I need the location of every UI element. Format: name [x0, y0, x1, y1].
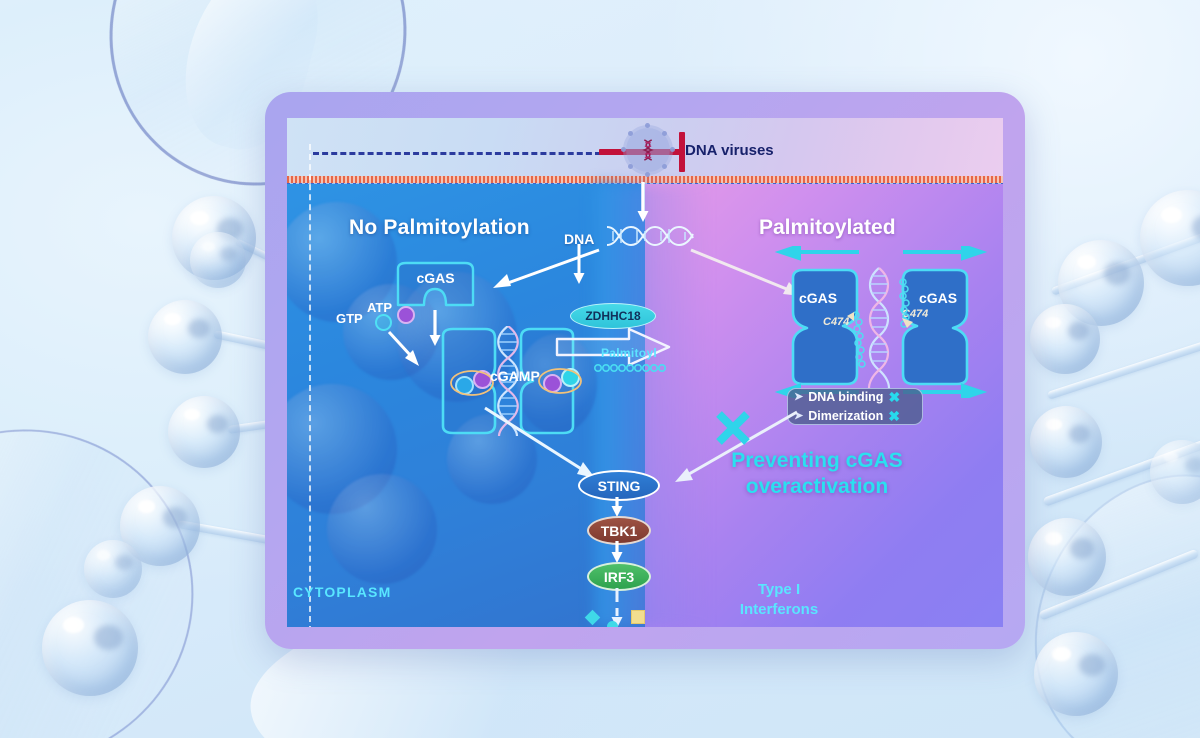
substrate-entry-arrow [385, 330, 429, 374]
cross-mark-icon: ✖ [888, 388, 900, 407]
interferon-line-1: Type I [758, 581, 800, 598]
active-site-right-icon [537, 366, 583, 396]
cross-mark-icon: ✖ [888, 407, 900, 426]
interferon-line-2: Interferons [740, 601, 818, 618]
figure-canvas: DNA viruses No Palmitoylation Palmitoyla… [0, 0, 1200, 738]
cross-icon [715, 410, 751, 446]
pathway-node-irf3: IRF3 [587, 562, 651, 591]
virus-icon [626, 128, 670, 172]
atp-label: ATP [367, 300, 392, 315]
chevron-right-icon: ➤ [794, 390, 803, 405]
cgas-monomer: cGAS [390, 261, 481, 308]
interferon-particle-icon [607, 621, 618, 627]
model-sphere [84, 540, 142, 598]
dna-into-complex-arrow [571, 244, 587, 288]
model-sphere [190, 232, 246, 288]
model-sphere [42, 600, 138, 696]
gtp-molecule-icon [375, 314, 392, 331]
model-sphere [1028, 518, 1106, 596]
model-sphere [168, 396, 240, 468]
model-sphere [1030, 406, 1102, 478]
inhibition-dashed-line [313, 152, 601, 155]
cell-schematic: DNA viruses No Palmitoylation Palmitoyla… [287, 118, 1003, 627]
model-sphere [1034, 632, 1118, 716]
active-site-left-icon [449, 368, 495, 398]
figure-card: DNA viruses No Palmitoylation Palmitoyla… [265, 92, 1025, 649]
model-sphere [148, 300, 222, 374]
blocked-functions-box: ➤ DNA binding ✖ ➤ Dimerization ✖ [787, 388, 923, 425]
panel-right-title: Palmitoylated [759, 216, 896, 240]
palmitoyl-label: Palmitoyl [601, 346, 657, 360]
viral-genome-icon [642, 139, 655, 161]
blocked-function-label: DNA binding [808, 389, 883, 406]
cgas-monomer-label: cGAS [390, 261, 481, 295]
blocked-function-row: ➤ DNA binding ✖ [794, 388, 916, 407]
zdhhc18-label: ZDHHC18 [585, 309, 640, 323]
blocked-function-row: ➤ Dimerization ✖ [794, 407, 916, 426]
conclusion-line-2: overactivation [746, 475, 888, 498]
irf3-label: IRF3 [604, 569, 634, 585]
tbk1-label: TBK1 [601, 523, 638, 539]
atp-molecule-icon [397, 306, 415, 324]
panel-left-title: No Palmitoylation [349, 216, 530, 240]
cgamp-label: cGAMP [490, 368, 540, 384]
sting-label: STING [598, 478, 641, 494]
cgamp-to-sting-arrow [483, 404, 601, 486]
zdhhc18-enzyme: ZDHHC18 [570, 303, 656, 329]
conclusion-text: Preventing cGAS overactivation [687, 448, 947, 501]
model-sphere [1030, 304, 1100, 374]
conclusion-line-1: Preventing cGAS [731, 449, 903, 472]
cytoplasm-label: CYTOPLASM [293, 584, 391, 600]
gtp-label: GTP [336, 311, 363, 326]
type-i-interferons-label: Type I Interferons [709, 580, 849, 621]
dimer-separation-arrows [773, 246, 989, 398]
palmitoyl-chain-icon [593, 362, 667, 374]
dna-duplex-icon [605, 224, 695, 248]
virus-label: DNA viruses [685, 142, 774, 159]
virus-entry-arrow [635, 182, 651, 226]
interferon-particle-icon [631, 610, 645, 624]
blocked-function-label: Dimerization [808, 408, 883, 425]
